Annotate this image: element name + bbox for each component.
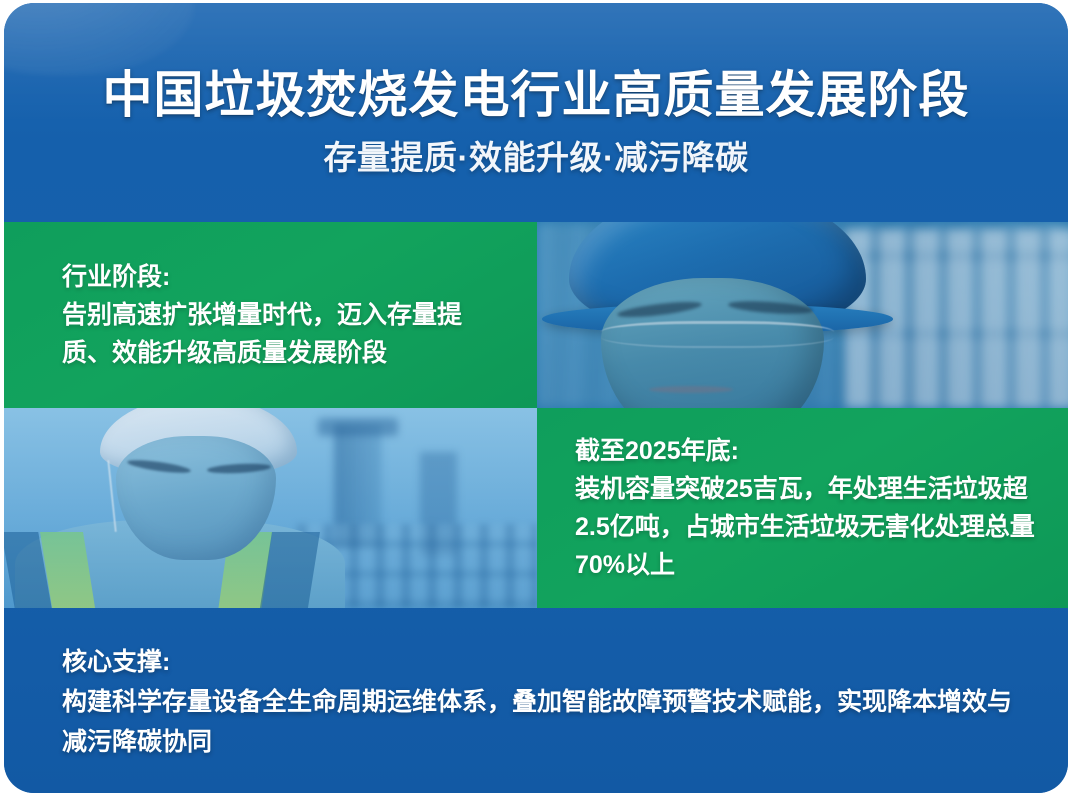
panel-industry-stage-text: 行业阶段: 告别高速扩张增量时代，迈入存量提质、效能升级高质量发展阶段 [62, 258, 509, 372]
photo-worker-stack-top [318, 418, 398, 436]
panel-core-support-body: 构建科学存量设备全生命周期运维体系，叠加智能故障预警技术赋能，实现降本增效与减污… [62, 682, 1022, 762]
photo-engineer [537, 222, 1068, 408]
page-subtitle: 存量提质·效能升级·减污降碳 [4, 125, 1068, 179]
panel-by-end-2025-body: 装机容量突破25吉瓦，年处理生活垃圾超2.5亿吨，占城市生活垃圾无害化处理总量7… [575, 470, 1040, 584]
poster-header: 中国垃圾焚烧发电行业高质量发展阶段 存量提质·效能升级·减污降碳 [4, 3, 1068, 222]
photo-worker [4, 408, 537, 608]
panel-core-support: 核心支撑: 构建科学存量设备全生命周期运维体系，叠加智能故障预警技术赋能，实现降… [4, 608, 1068, 793]
poster-card: 中国垃圾焚烧发电行业高质量发展阶段 存量提质·效能升级·减污降碳 行业阶段: 告… [4, 3, 1068, 793]
panel-by-end-2025-label: 截至2025年底: [575, 432, 1040, 470]
panel-industry-stage-label: 行业阶段: [62, 258, 509, 296]
glasses-icon [601, 321, 835, 348]
quadrant-grid: 行业阶段: 告别高速扩张增量时代，迈入存量提质、效能升级高质量发展阶段 [4, 222, 1068, 608]
panel-core-support-text: 核心支撑: 构建科学存量设备全生命周期运维体系，叠加智能故障预警技术赋能，实现降… [62, 642, 1022, 762]
panel-by-end-2025: 截至2025年底: 装机容量突破25吉瓦，年处理生活垃圾超2.5亿吨，占城市生活… [537, 408, 1068, 608]
page-title: 中国垃圾焚烧发电行业高质量发展阶段 [4, 3, 1068, 125]
photo-engineer-mouth [649, 386, 734, 393]
panel-core-support-label: 核心支撑: [62, 642, 1022, 682]
panel-by-end-2025-text: 截至2025年底: 装机容量突破25吉瓦，年处理生活垃圾超2.5亿吨，占城市生活… [575, 432, 1040, 584]
panel-industry-stage-body: 告别高速扩张增量时代，迈入存量提质、效能升级高质量发展阶段 [62, 296, 509, 372]
panel-industry-stage: 行业阶段: 告别高速扩张增量时代，迈入存量提质、效能升级高质量发展阶段 [4, 222, 537, 408]
